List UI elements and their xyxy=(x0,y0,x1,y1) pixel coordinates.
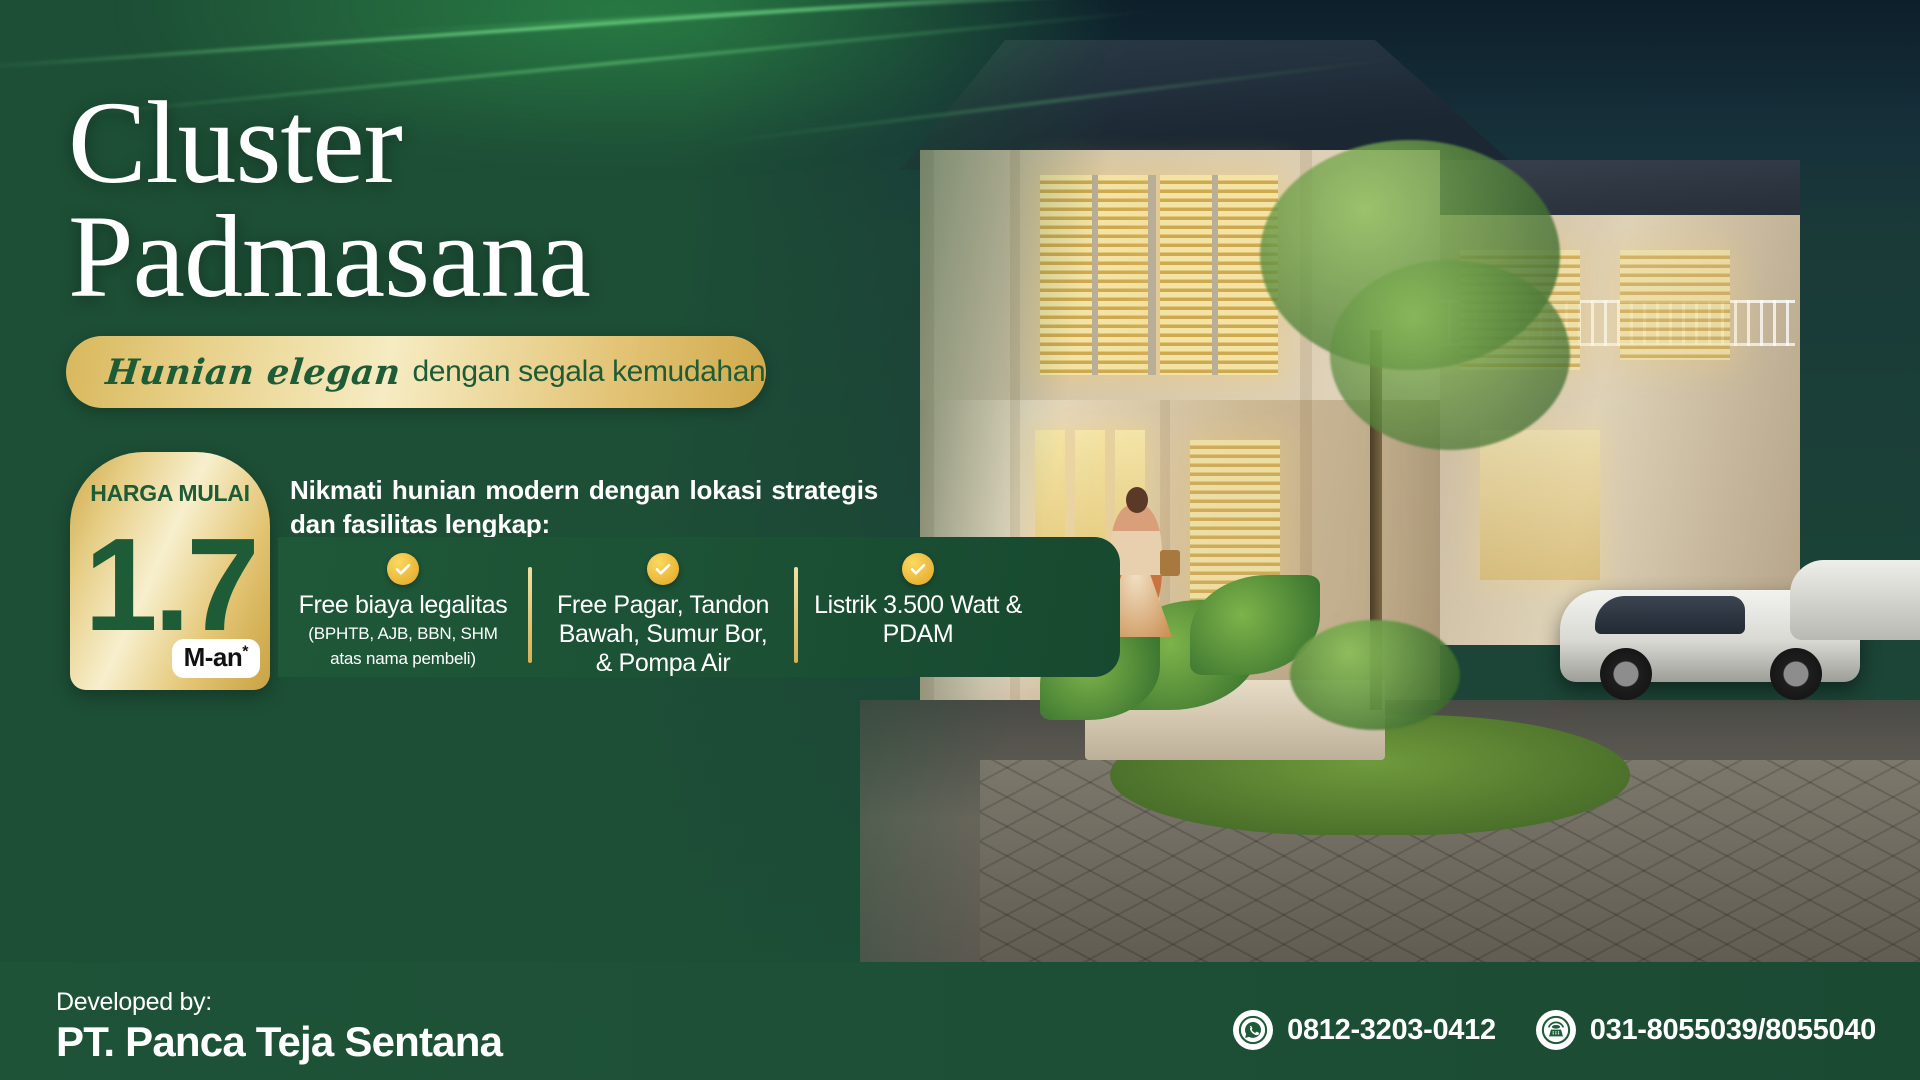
check-circle-icon xyxy=(647,553,679,585)
feature-item-2: Free Pagar, Tandon Bawah, Sumur Bor, & P… xyxy=(532,545,794,678)
contact-telephone[interactable]: 031-8055039/8055040 xyxy=(1536,1010,1876,1050)
tagline-script-text: Hunian elegan xyxy=(104,352,403,393)
contact-whatsapp[interactable]: 0812-3203-0412 xyxy=(1233,1010,1496,1050)
whatsapp-number: 0812-3203-0412 xyxy=(1287,1014,1496,1047)
page-title: Cluster Padmasana xyxy=(68,86,590,315)
banner-content: Cluster Padmasana Hunian elegan dengan s… xyxy=(0,0,1920,1080)
title-line-2: Padmasana xyxy=(68,200,590,314)
price-badge: HARGA MULAI 1.7 M-an* xyxy=(70,452,270,690)
price-unit-asterisk: * xyxy=(242,643,248,660)
intro-paragraph: Nikmati hunian modern dengan lokasi stra… xyxy=(290,473,878,542)
telephone-icon xyxy=(1536,1010,1576,1050)
price-unit-text: M-an xyxy=(184,642,243,672)
tagline-pill: Hunian elegan dengan segala kemudahan xyxy=(66,336,766,408)
price-badge-unit: M-an* xyxy=(172,639,260,678)
developed-by-label: Developed by: xyxy=(56,988,212,1017)
whatsapp-icon xyxy=(1233,1010,1273,1050)
check-circle-icon xyxy=(902,553,934,585)
check-circle-icon xyxy=(387,553,419,585)
title-line-1: Cluster xyxy=(68,77,402,208)
features-row: Free biaya legalitas (BPHTB, AJB, BBN, S… xyxy=(278,545,1120,675)
feature-title: Free biaya legalitas xyxy=(294,591,512,620)
feature-title: Listrik 3.500 Watt & PDAM xyxy=(814,591,1022,649)
tagline-rest-text: dengan segala kemudahan xyxy=(413,355,766,389)
telephone-number: 031-8055039/8055040 xyxy=(1590,1014,1876,1047)
feature-item-1: Free biaya legalitas (BPHTB, AJB, BBN, S… xyxy=(278,545,528,671)
developer-name: PT. Panca Teja Sentana xyxy=(56,1018,502,1066)
feature-item-3: Listrik 3.500 Watt & PDAM xyxy=(798,545,1038,649)
contact-list: 0812-3203-0412 031-8055039/8055040 xyxy=(1233,1010,1876,1050)
feature-title: Free Pagar, Tandon Bawah, Sumur Bor, & P… xyxy=(548,591,778,678)
feature-subtitle: (BPHTB, AJB, BBN, SHM atas nama pembeli) xyxy=(294,622,512,671)
